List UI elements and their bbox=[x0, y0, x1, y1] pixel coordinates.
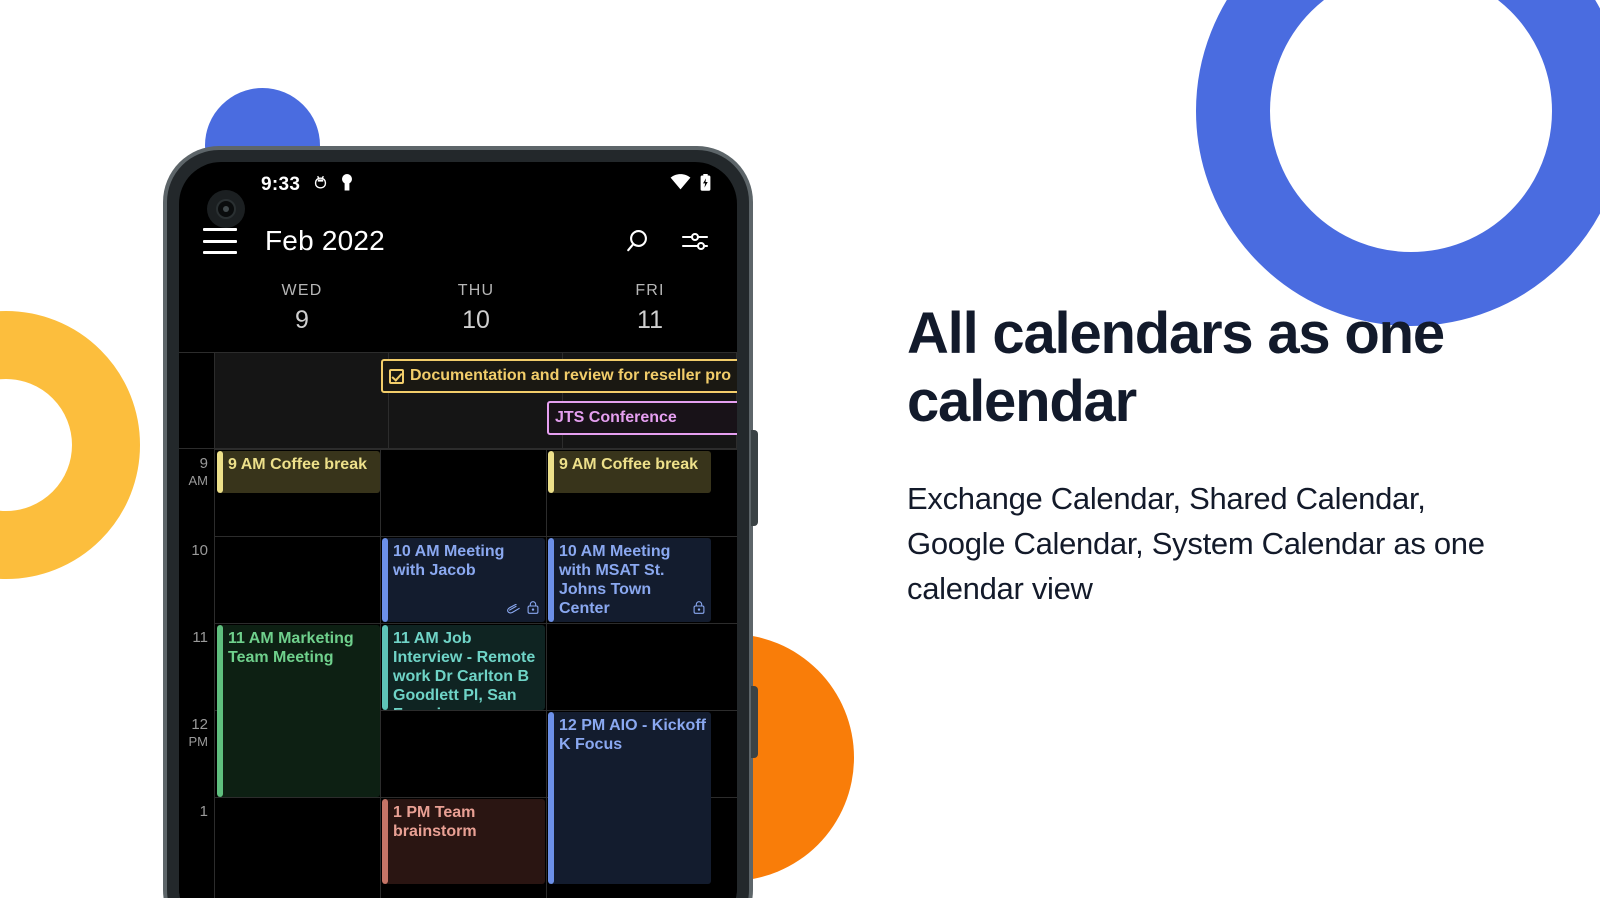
day-column-header[interactable]: WED 9 bbox=[215, 274, 389, 352]
search-icon[interactable] bbox=[623, 227, 651, 255]
vpn-key-icon bbox=[341, 174, 353, 197]
hour-label: 11 bbox=[192, 629, 208, 646]
all-day-event-jts-conference[interactable]: JTS Conference bbox=[547, 401, 737, 435]
event-coffee-break-wed[interactable]: 9 AM Coffee break bbox=[217, 451, 380, 493]
day-of-week-label: THU bbox=[389, 282, 563, 300]
android-debug-icon bbox=[313, 174, 328, 196]
event-title: 9 AM Coffee break bbox=[559, 456, 698, 473]
hour-label: 9AM bbox=[189, 455, 209, 489]
all-day-cell[interactable] bbox=[215, 353, 389, 448]
all-day-events-row: Documentation and review for reseller pr… bbox=[179, 352, 737, 448]
phone-screen: 9:33 bbox=[179, 162, 737, 898]
event-title: 11 AM Marketing Team Meeting bbox=[228, 630, 354, 666]
status-bar: 9:33 bbox=[179, 162, 737, 208]
battery-charging-icon bbox=[700, 174, 711, 197]
volume-button[interactable] bbox=[751, 430, 758, 526]
hour-label: 12PM bbox=[189, 716, 209, 750]
private-lock-icon bbox=[527, 600, 539, 619]
event-meeting-jacob[interactable]: 10 AM Meeting with Jacob bbox=[382, 538, 545, 622]
all-day-event-title: Documentation and review for reseller pr… bbox=[410, 367, 731, 385]
all-day-event-title: JTS Conference bbox=[555, 409, 677, 427]
day-number-label: 10 bbox=[389, 306, 563, 335]
grid-columns[interactable]: 9 AM Coffee break 9 AM Coffee break 10 A… bbox=[215, 449, 737, 898]
phone-mockup: 9:33 bbox=[163, 146, 753, 898]
headline-text: All calendars as one calendar bbox=[907, 300, 1527, 437]
status-bar-time: 9:33 bbox=[261, 174, 300, 196]
day-of-week-label: FRI bbox=[563, 282, 737, 300]
task-checkbox-icon bbox=[389, 369, 404, 384]
time-gutter: 9AM 10 11 12PM 1 bbox=[179, 449, 215, 898]
wifi-icon bbox=[670, 174, 691, 196]
event-title: 11 AM Job Interview - Remote work Dr Car… bbox=[393, 630, 535, 710]
all-day-event-documentation[interactable]: Documentation and review for reseller pr… bbox=[381, 359, 737, 393]
time-grid: 9AM 10 11 12PM 1 bbox=[179, 448, 737, 898]
subheadline-text: Exchange Calendar, Shared Calendar, Goog… bbox=[907, 477, 1527, 612]
marketing-copy: All calendars as one calendar Exchange C… bbox=[907, 300, 1527, 612]
day-number-label: 9 bbox=[215, 306, 389, 335]
day-column-header[interactable]: THU 10 bbox=[389, 274, 563, 352]
event-marketing-team-meeting[interactable]: 11 AM Marketing Team Meeting bbox=[217, 625, 380, 797]
event-team-brainstorm[interactable]: 1 PM Team brainstorm bbox=[382, 799, 545, 884]
event-coffee-break-fri[interactable]: 9 AM Coffee break bbox=[548, 451, 711, 493]
event-job-interview[interactable]: 11 AM Job Interview - Remote work Dr Car… bbox=[382, 625, 545, 710]
event-title: 12 PM AIO - Kickoff K Focus bbox=[559, 717, 706, 753]
event-meeting-msat[interactable]: 10 AM Meeting with MSAT St. Johns Town C… bbox=[548, 538, 711, 622]
filter-settings-icon[interactable] bbox=[681, 229, 709, 253]
hamburger-menu-icon[interactable] bbox=[203, 228, 237, 254]
app-toolbar: Feb 2022 bbox=[179, 208, 737, 274]
blue-ring-decoration bbox=[1196, 0, 1600, 326]
day-of-week-label: WED bbox=[215, 282, 389, 300]
all-day-gutter bbox=[179, 353, 215, 448]
phone-body: 9:33 bbox=[167, 150, 749, 898]
hour-label: 1 bbox=[200, 803, 208, 820]
event-title: 10 AM Meeting with Jacob bbox=[393, 543, 504, 579]
private-lock-icon bbox=[693, 600, 705, 619]
attachment-icon bbox=[507, 600, 521, 619]
day-column-header[interactable]: FRI 11 bbox=[563, 274, 737, 352]
power-button[interactable] bbox=[751, 686, 758, 758]
yellow-ring-decoration bbox=[0, 311, 140, 579]
event-title: 9 AM Coffee break bbox=[228, 456, 367, 473]
event-aio-kickoff[interactable]: 12 PM AIO - Kickoff K Focus bbox=[548, 712, 711, 884]
promo-banner: 9:33 bbox=[0, 0, 1600, 898]
day-number-label: 11 bbox=[563, 306, 737, 335]
page-title: Feb 2022 bbox=[265, 225, 385, 257]
hour-label: 10 bbox=[191, 542, 208, 559]
event-title: 1 PM Team brainstorm bbox=[393, 804, 477, 840]
day-header-row: WED 9 THU 10 FRI 11 bbox=[179, 274, 737, 352]
event-title: 10 AM Meeting with MSAT St. Johns Town C… bbox=[559, 543, 670, 617]
